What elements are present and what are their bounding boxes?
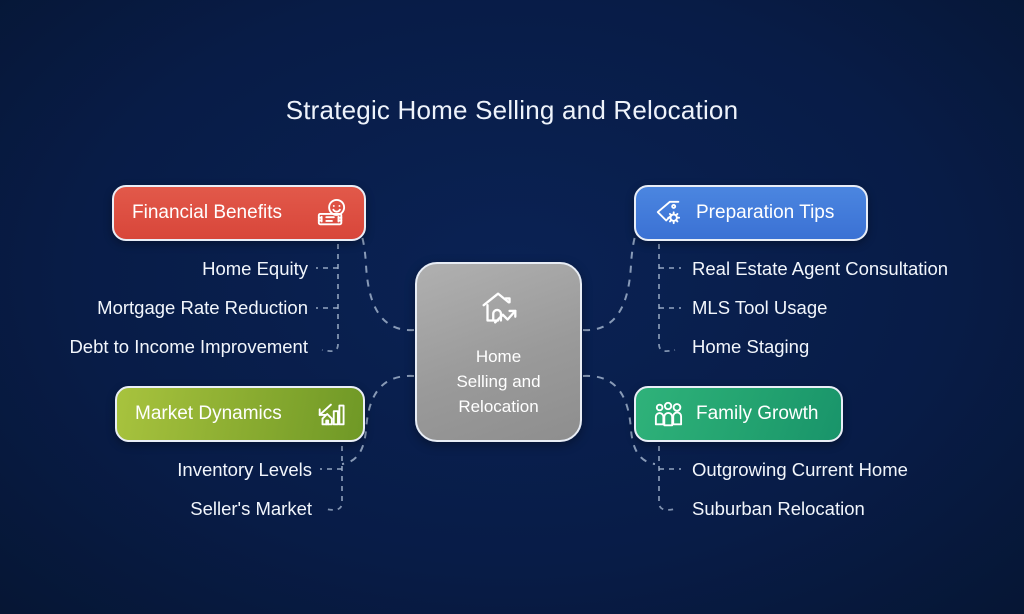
- center-label-line-2: Selling and: [456, 369, 540, 394]
- center-node-label: Home Selling and Relocation: [456, 344, 540, 419]
- wire-family-spine: [659, 446, 675, 510]
- branch-preparation-tips[interactable]: Preparation Tips: [634, 185, 868, 241]
- leaf-preparation-2: MLS Tool Usage: [692, 297, 827, 319]
- branch-family-growth[interactable]: Family Growth: [634, 386, 843, 442]
- center-label-line-3: Relocation: [456, 394, 540, 419]
- center-node[interactable]: Home Selling and Relocation: [415, 262, 582, 442]
- wire-market-spine: [326, 446, 342, 510]
- house-trend-icon: [476, 286, 522, 332]
- mindmap-canvas: Strategic Home Selling and Relocation: [0, 0, 1024, 614]
- page-title: Strategic Home Selling and Relocation: [0, 95, 1024, 126]
- branch-label-market-dynamics: Market Dynamics: [135, 403, 282, 425]
- wire-financial-spine: [322, 244, 338, 351]
- leaf-preparation-1: Real Estate Agent Consultation: [692, 258, 948, 280]
- branch-label-financial-benefits: Financial Benefits: [132, 202, 282, 224]
- center-label-line-1: Home: [456, 344, 540, 369]
- people-group-icon: [654, 399, 684, 429]
- branch-label-family-growth: Family Growth: [696, 403, 818, 425]
- wire-preparation-spine: [659, 244, 675, 351]
- leaf-financial-3: Debt to Income Improvement: [0, 336, 308, 358]
- branch-label-preparation-tips: Preparation Tips: [696, 202, 834, 224]
- branch-financial-benefits[interactable]: Financial Benefits: [112, 185, 366, 241]
- tag-gear-icon: [654, 198, 684, 228]
- leaf-financial-1: Home Equity: [0, 258, 308, 280]
- branch-market-dynamics[interactable]: Market Dynamics: [115, 386, 365, 442]
- leaf-financial-2: Mortgage Rate Reduction: [0, 297, 308, 319]
- leaf-market-1: Inventory Levels: [0, 459, 312, 481]
- money-smiley-icon: [316, 198, 346, 228]
- leaf-family-1: Outgrowing Current Home: [692, 459, 908, 481]
- leaf-family-2: Suburban Relocation: [692, 498, 865, 520]
- leaf-preparation-3: Home Staging: [692, 336, 809, 358]
- leaf-market-2: Seller's Market: [0, 498, 312, 520]
- house-bar-chart-icon: [315, 399, 345, 429]
